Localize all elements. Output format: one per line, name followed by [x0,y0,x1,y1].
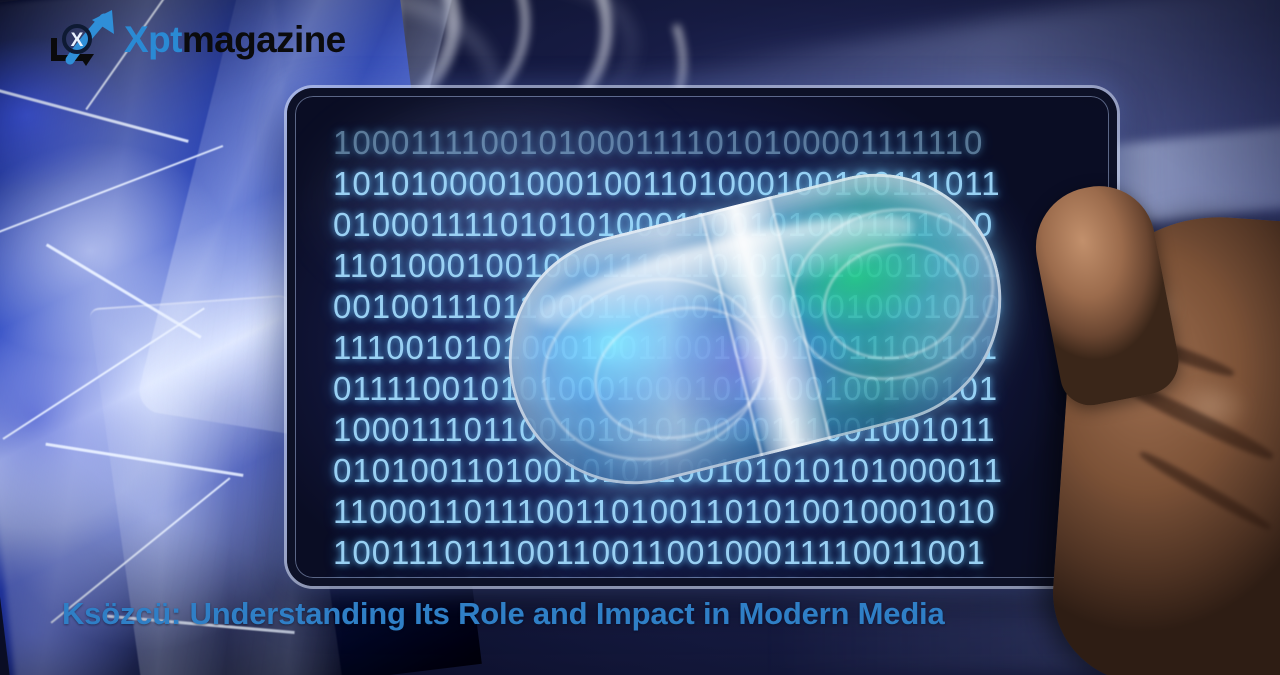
x-circle-arrow-logo-icon: X [46,8,120,70]
thumb [1026,177,1185,411]
site-logo-text: Xptmagazine [124,21,346,58]
brand-primary: Xpt [124,19,182,60]
article-headline: Ksözcü: Understanding Its Role and Impac… [62,596,1240,632]
site-logo[interactable]: X Xptmagazine [46,8,346,70]
svg-text:X: X [71,30,84,51]
article-hero-image: 1000111100101000111101010000111111010101… [0,0,1280,675]
brand-secondary: magazine [182,19,346,60]
